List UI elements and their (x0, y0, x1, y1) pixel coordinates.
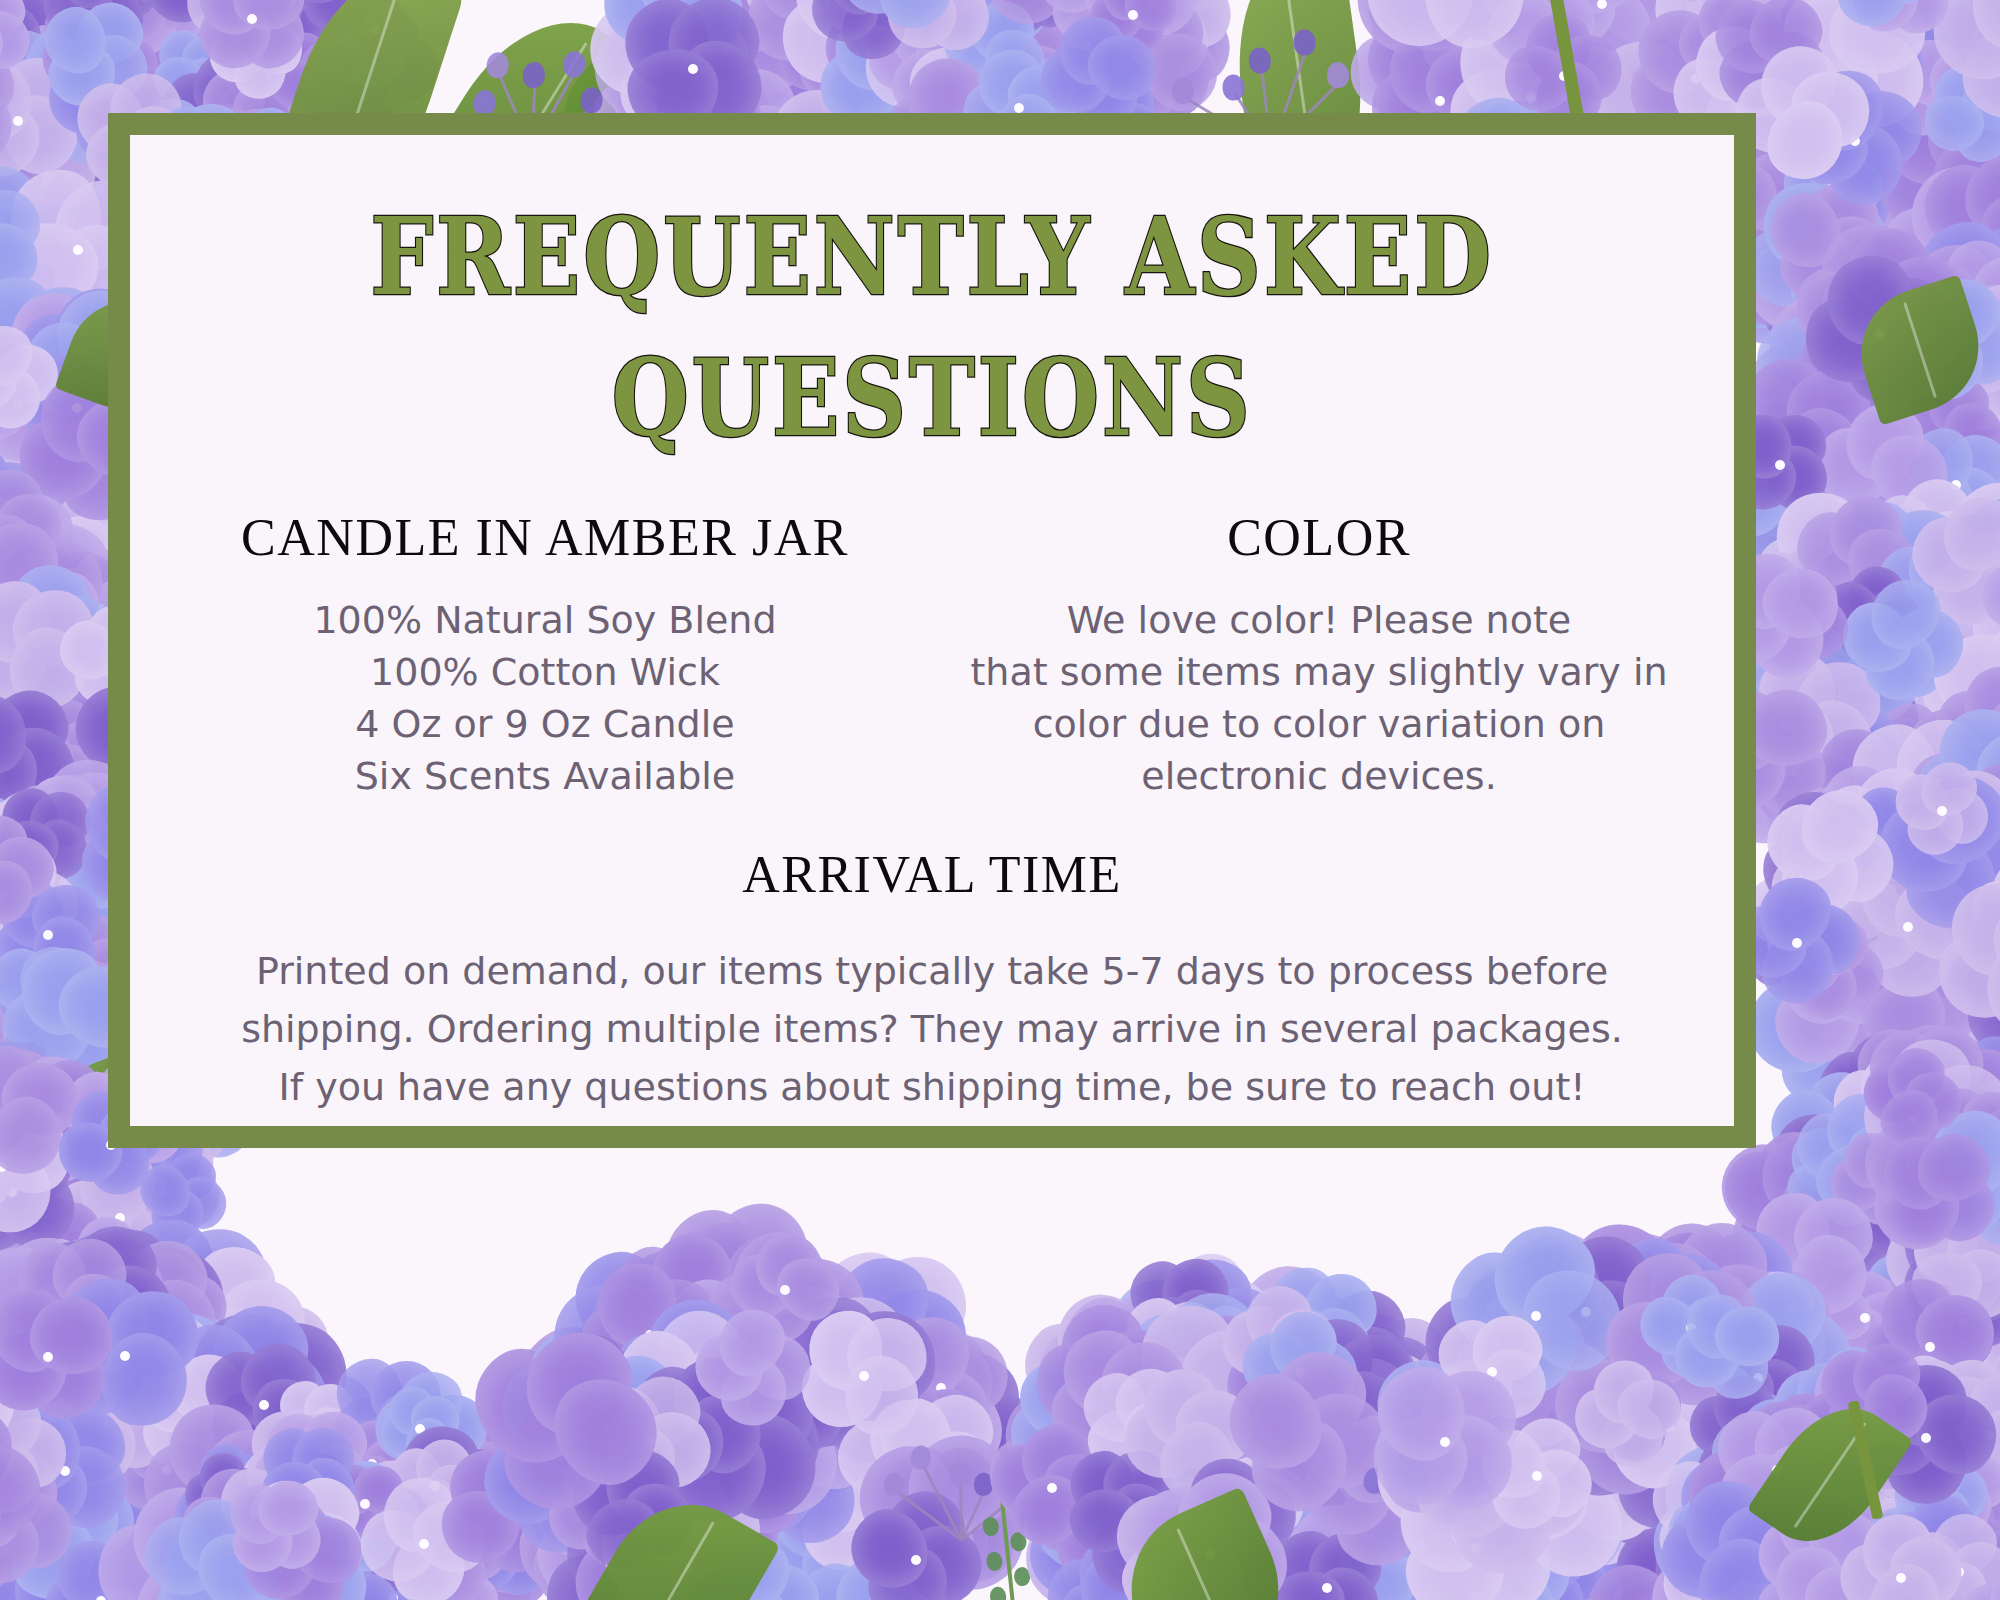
faq-columns: Candle In Amber Jar 100% Natural Soy Ble… (176, 509, 1688, 802)
section-heading-color: Color (950, 509, 1688, 566)
floret-center (1531, 1311, 1541, 1321)
section-body-color: We love color! Please note that some ite… (950, 594, 1688, 802)
floret-center (1128, 10, 1138, 20)
faq-graphic: Frequently Asked Questions Candle In Amb… (0, 0, 2000, 1600)
floret-center (1775, 460, 1785, 470)
section-body-candle: 100% Natural Soy Blend 100% Cotton Wick … (176, 594, 914, 802)
faq-section-candle-in-amber-jar: Candle In Amber Jar 100% Natural Soy Ble… (176, 509, 924, 802)
floret-center (73, 245, 83, 255)
floret-center (43, 930, 53, 940)
section-heading-candle: Candle In Amber Jar (176, 509, 914, 566)
faq-section-color: Color We love color! Please note that so… (924, 509, 1688, 802)
floret-center (1792, 938, 1802, 948)
floret-center (1440, 1437, 1450, 1447)
page-title: Frequently Asked Questions (297, 187, 1567, 469)
floret-center (1925, 1342, 1935, 1352)
section-body-arrival: Printed on demand, our items typically t… (176, 942, 1688, 1116)
floret-center (1047, 1483, 1057, 1493)
floret-center (1860, 1313, 1870, 1323)
faq-section-arrival-time: Arrival Time Printed on demand, our item… (176, 846, 1688, 1116)
faq-card-inner: Frequently Asked Questions Candle In Amb… (130, 135, 1734, 1126)
floret-center (1903, 922, 1913, 932)
faq-card: Frequently Asked Questions Candle In Amb… (108, 113, 1756, 1148)
floret-center (1896, 1573, 1906, 1583)
floret-center (1322, 1583, 1332, 1593)
section-heading-arrival: Arrival Time (176, 846, 1688, 903)
floret-center (13, 116, 23, 126)
